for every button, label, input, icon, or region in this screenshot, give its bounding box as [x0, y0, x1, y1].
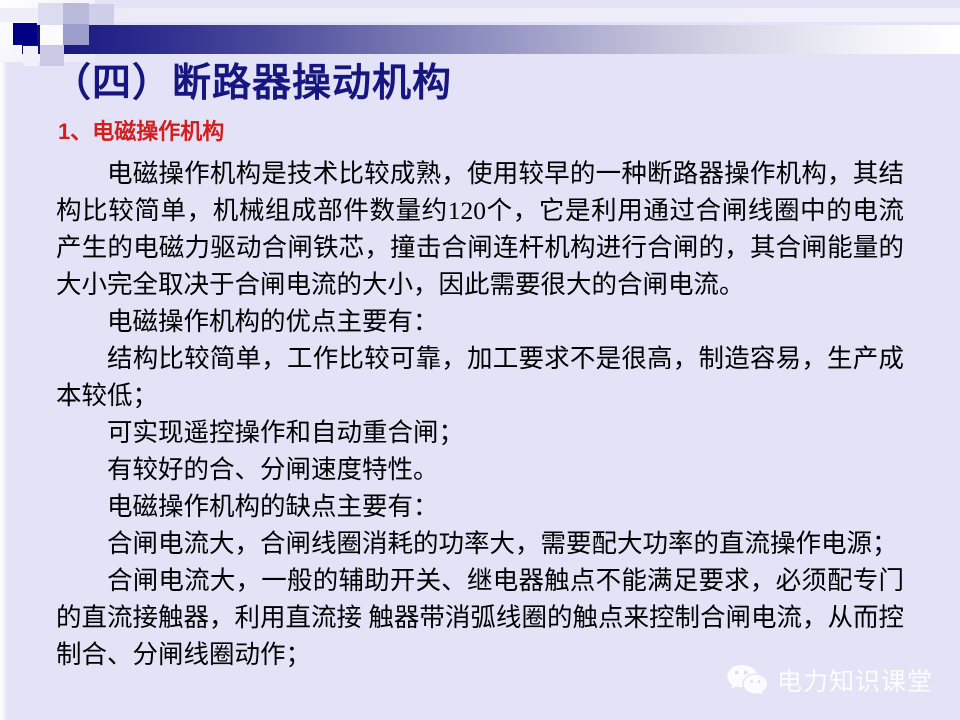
- body-paragraph: 合闸电流大，一般的辅助开关、继电器触点不能满足要求，必须配专门的直流接触器，利用…: [56, 562, 904, 673]
- decoration-square-light-e: [63, 24, 89, 45]
- body-paragraph: 有较好的合、分闸速度特性。: [56, 451, 904, 488]
- header-gradient-bar: [22, 25, 960, 54]
- decoration-square-light-d: [63, 3, 89, 25]
- watermark-label: 电力知识课堂: [777, 662, 933, 698]
- body-paragraph: 合闸电流大，合闸线圈消耗的功率大，需要配大功率的直流操作电源；: [56, 525, 904, 562]
- body-paragraph: 电磁操作机构的缺点主要有：: [56, 488, 904, 525]
- wechat-icon: [726, 663, 768, 697]
- slide-canvas: （四）断路器操动机构 1、电磁操作机构 电磁操作机构是技术比较成熟，使用较早的一…: [0, 0, 960, 720]
- slide-title: （四）断路器操动机构: [52, 63, 912, 106]
- body-paragraph: 可实现遥控操作和自动重合闸；: [56, 414, 904, 451]
- header-top-line: [0, 8, 960, 22]
- decoration-square-light-g: [23, 46, 38, 66]
- body-text-block: 电磁操作机构是技术比较成熟，使用较早的一种断路器操作机构，其结构比较简单，机械组…: [56, 155, 904, 673]
- watermark: 电力知识课堂: [726, 662, 933, 698]
- header-decoration: [0, 0, 960, 62]
- slide-subtitle: 1、电磁操作机构: [58, 119, 224, 145]
- decoration-square-light-f: [88, 4, 114, 25]
- body-paragraph: 电磁操作机构是技术比较成熟，使用较早的一种断路器操作机构，其结构比较简单，机械组…: [56, 155, 904, 303]
- decoration-square-light-b: [40, 25, 63, 45]
- decoration-square-dark: [13, 23, 37, 45]
- body-paragraph: 结构比较简单，工作比较可靠，加工要求不是很高，制造容易，生产成本较低；: [56, 340, 904, 414]
- left-edge-strip: [0, 0, 7, 720]
- decoration-square-light-a: [38, 3, 63, 25]
- body-paragraph: 电磁操作机构的优点主要有：: [56, 303, 904, 340]
